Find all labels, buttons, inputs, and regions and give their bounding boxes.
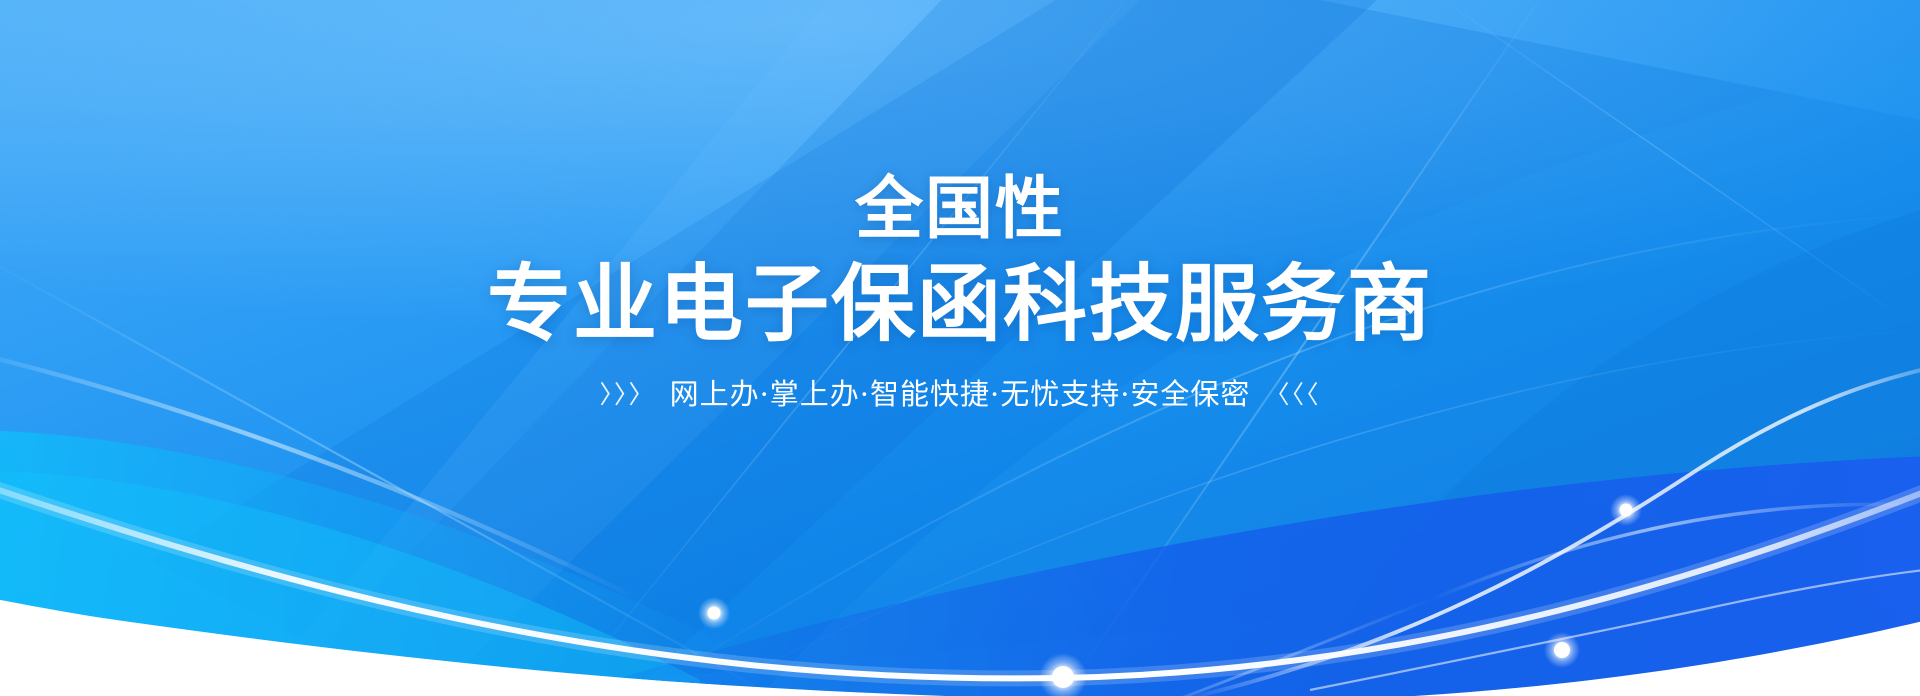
glow-dot — [1554, 642, 1570, 658]
glow-dot — [1052, 666, 1074, 688]
glow-dot — [1620, 504, 1633, 517]
hero-banner: 全国性 专业电子保函科技服务商 〉〉〉 网上办·掌上办·智能快捷·无忧支持·安全… — [0, 0, 1920, 696]
glow-dot — [708, 607, 721, 620]
banner-background-art — [0, 0, 1920, 696]
